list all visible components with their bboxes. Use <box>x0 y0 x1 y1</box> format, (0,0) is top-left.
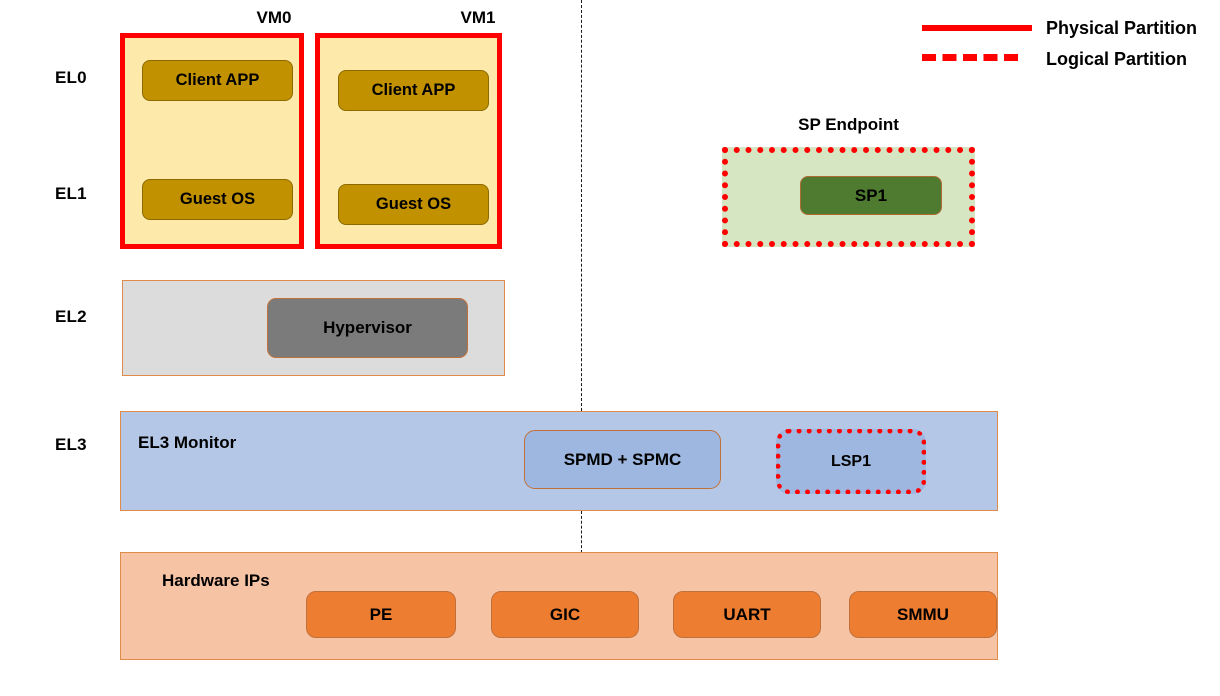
hardware-ip-gic[interactable]: GIC <box>491 591 639 638</box>
vm0-partition-box[interactable]: Client APP Guest OS <box>120 33 304 249</box>
sp1-chip[interactable]: SP1 <box>800 176 942 215</box>
vm0-guest-os-chip[interactable]: Guest OS <box>142 179 293 220</box>
vm1-client-app-chip[interactable]: Client APP <box>338 70 489 111</box>
secure-world-divider-top <box>581 0 582 411</box>
legend-logical-swatch <box>922 54 1018 61</box>
vm0-client-app-chip[interactable]: Client APP <box>142 60 293 101</box>
vm1-title: VM1 <box>418 8 538 28</box>
hardware-ip-pe[interactable]: PE <box>306 591 456 638</box>
sp-endpoint-title: SP Endpoint <box>722 115 975 135</box>
vm0-title: VM0 <box>214 8 334 28</box>
legend-physical-label: Physical Partition <box>1046 18 1197 39</box>
spmd-spmc-chip[interactable]: SPMD + SPMC <box>524 430 721 489</box>
el-label-el1: EL1 <box>55 184 87 204</box>
el3-band: EL3 Monitor SPMD + SPMC LSP1 <box>120 411 998 511</box>
sp-endpoint-box[interactable]: SP1 <box>722 147 975 247</box>
legend: Physical Partition Logical Partition <box>920 10 1220 72</box>
el-label-el3: EL3 <box>55 435 87 455</box>
hardware-ips-band: Hardware IPs PE GIC UART SMMU <box>120 552 998 660</box>
hypervisor-chip[interactable]: Hypervisor <box>267 298 468 358</box>
el-label-el2: EL2 <box>55 307 87 327</box>
hardware-ip-uart[interactable]: UART <box>673 591 821 638</box>
vm1-guest-os-chip[interactable]: Guest OS <box>338 184 489 225</box>
vm1-partition-box[interactable]: Client APP Guest OS <box>315 33 502 249</box>
secure-world-divider-bottom <box>581 511 582 553</box>
legend-logical-label: Logical Partition <box>1046 49 1187 70</box>
legend-physical-swatch <box>922 25 1032 31</box>
el2-band: Hypervisor <box>122 280 505 376</box>
hardware-ip-smmu[interactable]: SMMU <box>849 591 997 638</box>
lsp1-chip[interactable]: LSP1 <box>776 429 926 494</box>
el-label-el0: EL0 <box>55 68 87 88</box>
diagram-canvas: Physical Partition Logical Partition EL0… <box>0 0 1220 696</box>
el3-monitor-title: EL3 Monitor <box>138 433 236 453</box>
hardware-ips-title: Hardware IPs <box>162 571 270 591</box>
